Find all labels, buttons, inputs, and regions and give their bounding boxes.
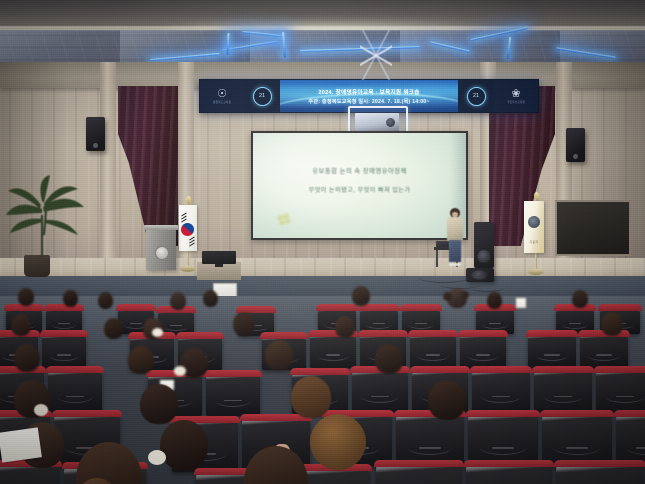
handout-paper xyxy=(516,298,526,308)
podium-top-surface xyxy=(144,225,178,230)
institution-emblem-icon xyxy=(528,216,540,228)
wall-speaker-right-icon xyxy=(566,128,585,162)
seat xyxy=(460,334,506,368)
wall-display-panel xyxy=(555,200,631,256)
audience-person xyxy=(228,312,260,340)
seat xyxy=(596,370,645,412)
seat xyxy=(534,370,592,412)
audience-person xyxy=(330,316,360,342)
audience-person xyxy=(348,286,374,310)
floor-cable xyxy=(470,284,504,292)
presenter-legs xyxy=(449,240,461,262)
stage-speaker-right-icon xyxy=(474,222,494,268)
auditorium-photograph: ☉ 충청북도교육청 21 2024. 장애영유아교육 · 보육지원 워크숍 주관… xyxy=(0,0,645,484)
institution-flag-icon: 기관기 xyxy=(524,201,544,253)
scissor-lift-arms xyxy=(360,30,392,80)
seat xyxy=(616,414,645,466)
slide-title: 유보통합 논의 속 장애영유아정책 xyxy=(253,166,466,175)
banner-circle-left: 21 xyxy=(244,80,280,112)
banner-subtitle-line: 주관: 충청북도교육청 일시: 2024. 7. 18.(목) 14:00~ xyxy=(308,98,429,105)
banner-logo-left: ☉ 충청북도교육청 xyxy=(200,80,244,112)
wall-speaker-left-icon xyxy=(86,117,105,151)
institution-flag-caption: 기관기 xyxy=(524,240,544,244)
audience-person xyxy=(150,420,218,476)
audience-person xyxy=(14,288,38,310)
audience-person xyxy=(442,288,472,312)
audience-person xyxy=(420,380,474,424)
korean-flag-icon xyxy=(179,205,197,251)
wall-pilaster xyxy=(100,62,116,277)
audience-person xyxy=(62,442,158,484)
presenter-figure xyxy=(446,208,464,266)
audience-person xyxy=(8,344,46,376)
banner-title-line: 2024. 장애영유아교육 · 보육지원 워크숍 xyxy=(318,88,419,96)
audience-person xyxy=(258,340,300,376)
audience-person xyxy=(122,346,160,378)
audience-person xyxy=(368,344,410,380)
audience-person xyxy=(174,348,214,382)
audience-seating-area xyxy=(0,296,645,484)
speaker-cone-icon xyxy=(478,250,491,263)
seat xyxy=(466,464,552,484)
banner-logo-right-caption: 국립특수교육원 xyxy=(507,100,525,104)
projector-lift xyxy=(352,30,400,84)
presenter-shoe xyxy=(455,263,461,266)
projector-body xyxy=(355,113,399,132)
podium xyxy=(146,228,176,270)
ceiling xyxy=(0,0,645,70)
banner-logo-left-caption: 충청북도교육청 xyxy=(213,100,231,104)
flag-stand-left xyxy=(180,266,196,272)
slide-subtitle: 무엇이 논의됐고, 무엇이 빠져 있는가 xyxy=(253,185,466,194)
audience-person xyxy=(232,446,324,484)
audience-person xyxy=(568,290,592,312)
flower-graphic-icon xyxy=(275,211,295,228)
taeguk-symbol-icon xyxy=(181,223,194,236)
seat xyxy=(472,370,530,412)
audience-person xyxy=(60,290,82,310)
projection-screen: 유보통합 논의 속 장애영유아정책 무엇이 논의됐고, 무엇이 빠져 있는가 xyxy=(251,131,468,240)
seat xyxy=(410,334,456,368)
audience-person xyxy=(166,292,190,314)
podium-seal-icon xyxy=(155,246,169,260)
potted-palm-plant-icon xyxy=(2,175,90,260)
seat xyxy=(206,374,260,416)
side-table-leg xyxy=(436,250,438,267)
handout-paper xyxy=(0,427,42,462)
seat xyxy=(528,334,576,368)
seat xyxy=(376,464,462,484)
stage-monitor-icon xyxy=(202,251,236,264)
projector-lens-icon xyxy=(386,118,395,127)
audience-person xyxy=(200,290,222,310)
audience-person xyxy=(596,312,628,340)
seat xyxy=(556,464,644,484)
seat xyxy=(542,414,612,466)
audience-person xyxy=(138,318,168,344)
presenter-torso xyxy=(447,217,463,241)
banner-circle-right: 21 xyxy=(458,80,494,112)
banner-circle-left-label: 21 xyxy=(253,87,272,106)
seat xyxy=(468,414,538,466)
speaker-cone-icon xyxy=(471,271,488,280)
audience-person xyxy=(484,292,506,312)
institution-emblem-icon: ☉ xyxy=(217,89,227,99)
audience-person xyxy=(6,380,58,422)
audience-person xyxy=(95,292,117,312)
seat xyxy=(42,334,86,368)
audience-person xyxy=(100,318,128,342)
banner-logo-right: ❀ 국립특수교육원 xyxy=(494,80,538,112)
organization-emblem-icon: ❀ xyxy=(511,89,520,99)
audience-person xyxy=(6,314,36,340)
banner-circle-right-label: 21 xyxy=(467,87,486,106)
projected-slide: 유보통합 논의 속 장애영유아정책 무엇이 논의됐고, 무엇이 빠져 있는가 xyxy=(253,133,466,238)
flag-stand-right xyxy=(528,269,544,275)
